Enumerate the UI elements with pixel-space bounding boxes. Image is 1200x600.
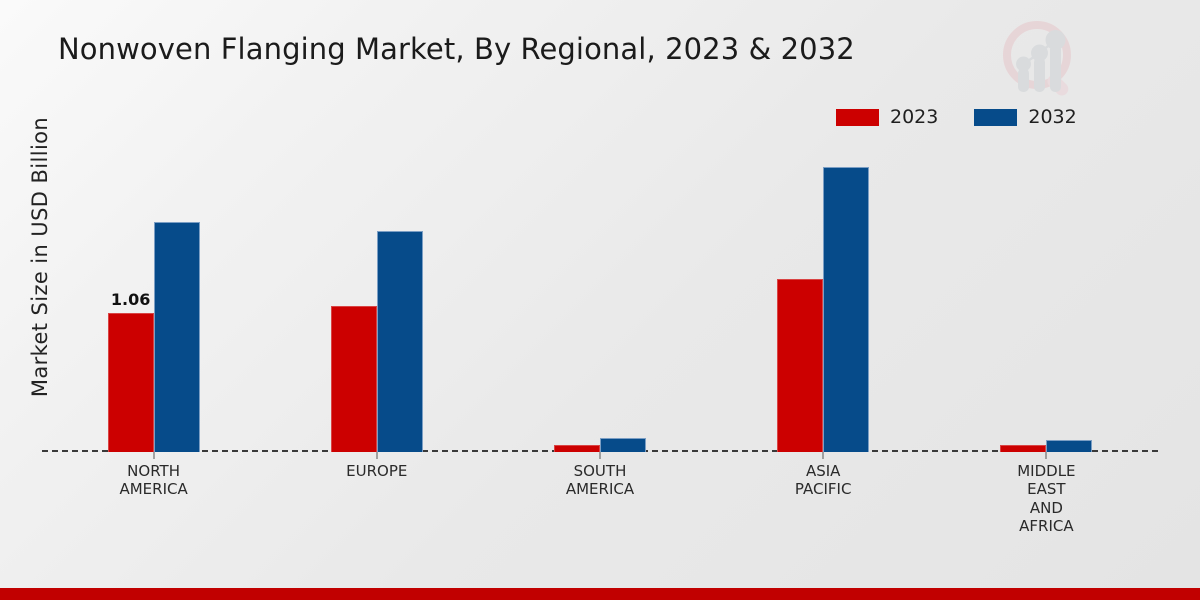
- x-axis-category-line: AND: [1017, 499, 1075, 517]
- market-research-logo-watermark: [996, 14, 1088, 106]
- x-axis-category-line: AMERICA: [119, 480, 187, 498]
- bar-value-label: 1.06: [111, 290, 150, 309]
- bar-2023[interactable]: [777, 279, 823, 452]
- chart-legend: 2023 2032: [836, 108, 1077, 127]
- bar-2032[interactable]: [1046, 440, 1092, 452]
- x-axis-category-line: SOUTH: [566, 462, 634, 480]
- bar-2023[interactable]: [1000, 445, 1046, 452]
- x-axis-tick: [153, 452, 154, 459]
- x-axis-category-label: MIDDLEEASTANDAFRICA: [1017, 462, 1075, 535]
- bar-2023[interactable]: [554, 445, 600, 452]
- bar-group: EUROPE: [265, 150, 488, 452]
- bar-group: SOUTHAMERICA: [488, 150, 711, 452]
- legend-item-2032[interactable]: 2032: [974, 108, 1076, 127]
- bar-2032[interactable]: [823, 167, 869, 452]
- bar-rect[interactable]: [1000, 445, 1046, 452]
- chart-title: Nonwoven Flanging Market, By Regional, 2…: [58, 32, 855, 66]
- plot-area: 1.06NORTHAMERICAEUROPESOUTHAMERICAASIAPA…: [42, 150, 1158, 452]
- x-axis-category-label: NORTHAMERICA: [119, 462, 187, 499]
- chart-canvas: Nonwoven Flanging Market, By Regional, 2…: [0, 0, 1200, 600]
- legend-swatch-2023: [836, 109, 879, 126]
- bar-2023[interactable]: 1.06: [108, 313, 154, 452]
- bar-2032[interactable]: [154, 222, 200, 452]
- bar-rect[interactable]: [554, 445, 600, 452]
- x-axis-category-line: MIDDLE: [1017, 462, 1075, 480]
- x-axis-tick: [1046, 452, 1047, 459]
- bar-group: 1.06NORTHAMERICA: [42, 150, 265, 452]
- x-axis-tick: [376, 452, 377, 459]
- bar-rect[interactable]: [600, 438, 646, 452]
- bar-rect[interactable]: [377, 231, 423, 452]
- x-axis-category-line: AFRICA: [1017, 517, 1075, 535]
- bar-rect[interactable]: [331, 306, 377, 452]
- bar-rect[interactable]: [154, 222, 200, 452]
- bar-2032[interactable]: [600, 438, 646, 452]
- x-axis-category-label: ASIAPACIFIC: [795, 462, 852, 499]
- bar-2032[interactable]: [377, 231, 423, 452]
- bar-rect[interactable]: [823, 167, 869, 452]
- bar-group: ASIAPACIFIC: [712, 150, 935, 452]
- bar-rect[interactable]: [108, 313, 154, 452]
- legend-swatch-2032: [974, 109, 1017, 126]
- bar-chart-icon: [1016, 30, 1066, 92]
- x-axis-tick: [599, 452, 600, 459]
- x-axis-category-line: PACIFIC: [795, 480, 852, 498]
- x-axis-category-line: EAST: [1017, 480, 1075, 498]
- x-axis-category-line: ASIA: [795, 462, 852, 480]
- x-axis-category-line: AMERICA: [566, 480, 634, 498]
- bar-2023[interactable]: [331, 306, 377, 452]
- legend-label-2032: 2032: [1028, 108, 1076, 127]
- x-axis-category-label: EUROPE: [346, 462, 407, 480]
- legend-item-2023[interactable]: 2023: [836, 108, 938, 127]
- magnifier-icon: [1007, 25, 1071, 98]
- legend-label-2023: 2023: [890, 108, 938, 127]
- bar-rect[interactable]: [777, 279, 823, 452]
- x-axis-category-label: SOUTHAMERICA: [566, 462, 634, 499]
- bar-rect[interactable]: [1046, 440, 1092, 452]
- bar-group: MIDDLEEASTANDAFRICA: [935, 150, 1158, 452]
- x-axis-tick: [823, 452, 824, 459]
- footer-accent-bar: [0, 588, 1200, 600]
- x-axis-category-line: NORTH: [119, 462, 187, 480]
- x-axis-category-line: EUROPE: [346, 462, 407, 480]
